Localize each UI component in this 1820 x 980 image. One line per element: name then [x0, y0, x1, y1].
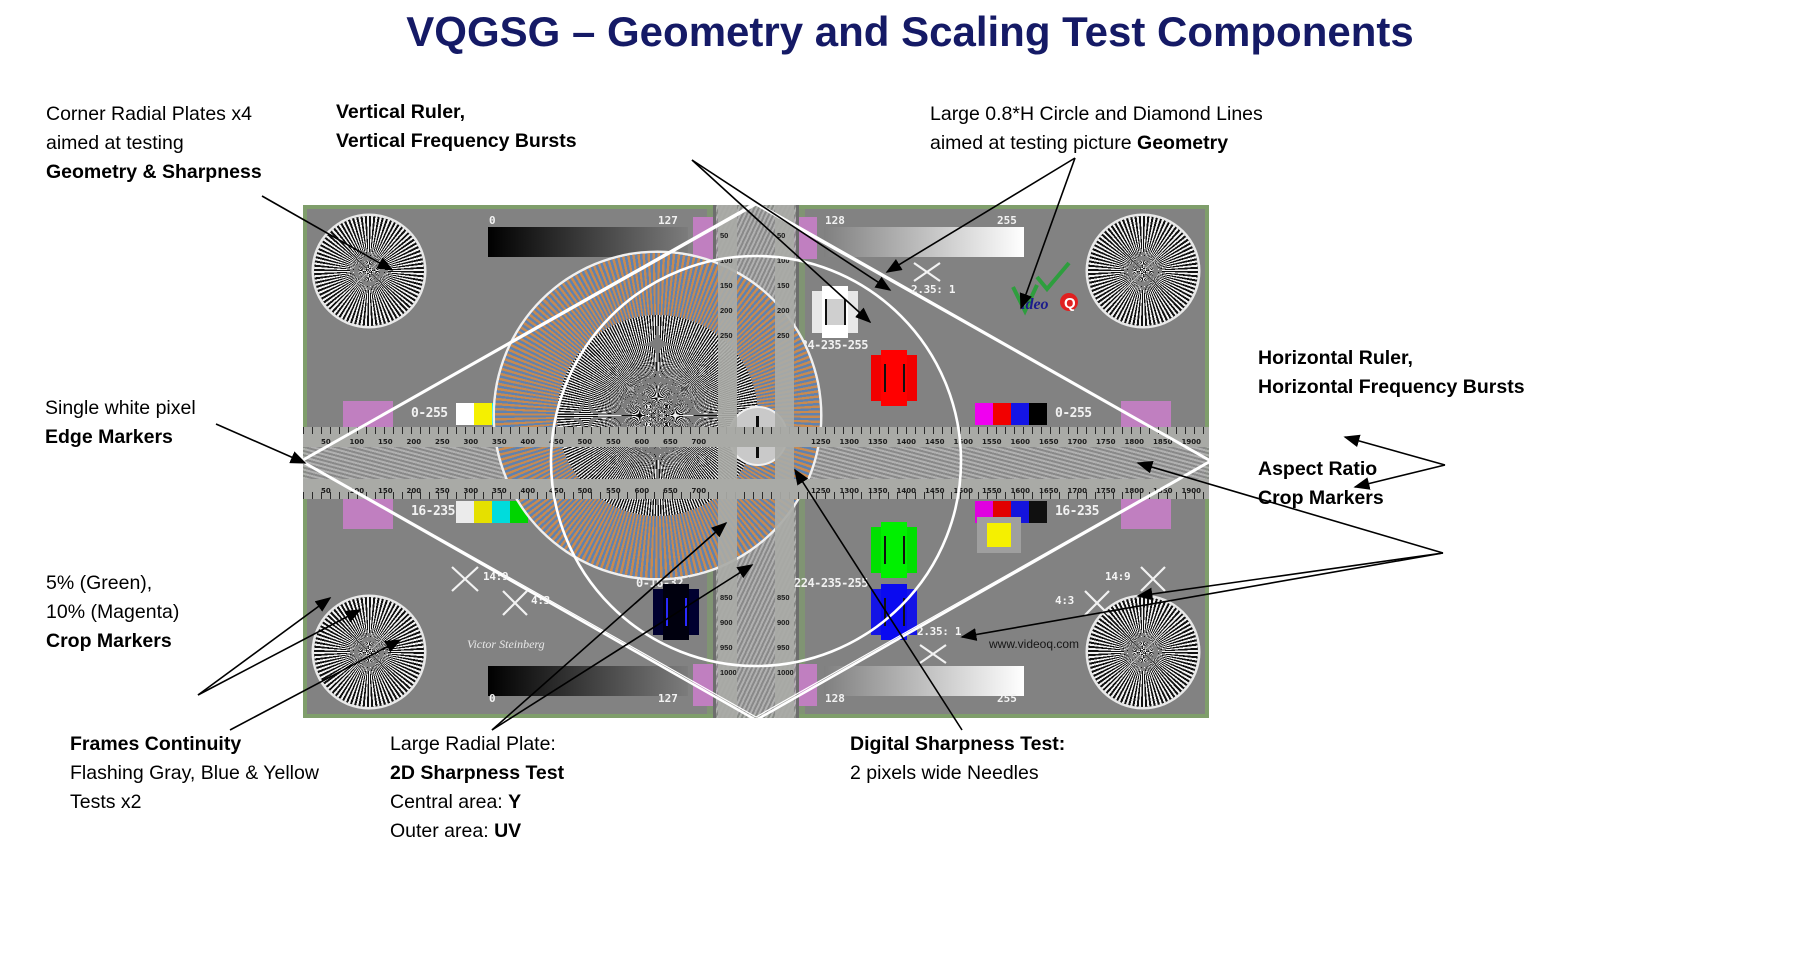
callout-corner-radial-plates: Corner Radial Plates x4aimed at testingG…: [46, 100, 262, 187]
ar-label-2351-top: 2.35: 1: [911, 283, 955, 296]
ar-cross-2351-bottom: [920, 645, 946, 663]
callout-line: Large Radial Plate:: [390, 730, 564, 759]
edge-marker-line-br: [756, 461, 1209, 717]
callout-line: Horizontal Frequency Bursts: [1258, 373, 1525, 402]
callout-frames-continuity: Frames ContinuityFlashing Gray, Blue & Y…: [70, 730, 319, 817]
ar-label-149-right: 14:9: [1105, 570, 1130, 583]
callout-line: aimed at testing: [46, 129, 262, 158]
leader-edge-markers: [216, 424, 305, 463]
ar-cross-2351-top: [914, 263, 940, 281]
callout-line: Edge Markers: [45, 423, 196, 452]
callout-line: Central area: Y: [390, 788, 564, 817]
callout-line: 5% (Green),: [46, 569, 179, 598]
website-url: www.videoq.com: [989, 637, 1079, 651]
callout-line: Large 0.8*H Circle and Diamond Lines: [930, 100, 1263, 129]
ar-label-2351-bottom: 2.35: 1: [917, 625, 961, 638]
ar-cross-43-left: [503, 591, 527, 615]
callout-line: aimed at testing picture Geometry: [930, 129, 1263, 158]
ar-label-149-left: 14:9: [483, 570, 508, 583]
callout-line: Aspect Ratio: [1258, 455, 1384, 484]
callout-horizontal-ruler: Horizontal Ruler,Horizontal Frequency Bu…: [1258, 344, 1525, 402]
ar-cross-43-right: [1085, 591, 1109, 615]
callout-line: Geometry & Sharpness: [46, 158, 262, 187]
large-geometry-circle: [551, 256, 961, 666]
callout-single-white-pixel: Single white pixelEdge Markers: [45, 394, 196, 452]
test-pattern-image: 0 127 128 255 0 127 128 255 0-255 0-255 …: [303, 205, 1209, 718]
callout-line: 2D Sharpness Test: [390, 759, 564, 788]
callout-percent-crop: 5% (Green),10% (Magenta)Crop Markers: [46, 569, 179, 656]
callout-line: Frames Continuity: [70, 730, 319, 759]
callout-line: Horizontal Ruler,: [1258, 344, 1525, 373]
page-title: VQGSG – Geometry and Scaling Test Compon…: [0, 8, 1820, 56]
callout-line: Corner Radial Plates x4: [46, 100, 262, 129]
edge-marker-line-tr: [756, 205, 1209, 461]
edge-marker-line-bl: [303, 461, 756, 717]
callout-line: Vertical Ruler,: [336, 98, 577, 127]
author-signature: Victor Steinberg: [467, 637, 545, 652]
videoq-checkmark: [1033, 261, 1073, 300]
callout-line: Crop Markers: [1258, 484, 1384, 513]
callout-aspect-ratio: Aspect RatioCrop Markers: [1258, 455, 1384, 513]
callout-vertical-ruler: Vertical Ruler,Vertical Frequency Bursts: [336, 98, 577, 156]
edge-marker-line-tl: [303, 205, 756, 461]
callout-line: Outer area: UV: [390, 817, 564, 846]
callout-digital-sharpness: Digital Sharpness Test:2 pixels wide Nee…: [850, 730, 1065, 788]
callout-line: Digital Sharpness Test:: [850, 730, 1065, 759]
ar-label-43-right: 4:3: [1055, 594, 1074, 607]
ar-label-43-left: 4:3: [531, 594, 550, 607]
callout-line: Tests x2: [70, 788, 319, 817]
callout-line: 2 pixels wide Needles: [850, 759, 1065, 788]
callout-line: Crop Markers: [46, 627, 179, 656]
ar-cross-149-left: [452, 567, 478, 591]
ar-cross-149-right: [1141, 567, 1165, 591]
callout-line: Vertical Frequency Bursts: [336, 127, 577, 156]
callout-line: Flashing Gray, Blue & Yellow: [70, 759, 319, 788]
callout-large-radial-plate: Large Radial Plate:2D Sharpness TestCent…: [390, 730, 564, 846]
callout-large-circle-diamond: Large 0.8*H Circle and Diamond Linesaime…: [930, 100, 1263, 158]
callout-line: 10% (Magenta): [46, 598, 179, 627]
callout-line: Single white pixel: [45, 394, 196, 423]
check-icon: [1033, 261, 1073, 295]
